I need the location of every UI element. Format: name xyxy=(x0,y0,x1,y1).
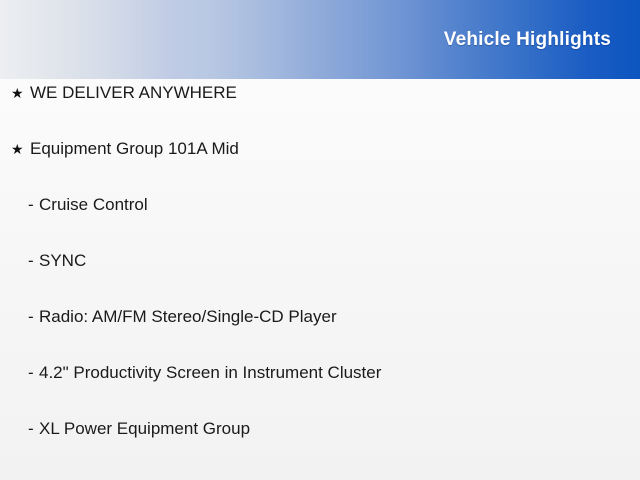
list-item: - Radio: AM/FM Stereo/Single-CD Player xyxy=(0,308,640,364)
vehicle-highlights-list: ★ WE DELIVER ANYWHERE ★ Equipment Group … xyxy=(0,84,640,476)
page-header-banner: Vehicle Highlights xyxy=(0,0,640,79)
list-item-label: SYNC xyxy=(39,252,86,269)
dash-marker-icon: - xyxy=(28,252,39,269)
list-item-label: Radio: AM/FM Stereo/Single-CD Player xyxy=(39,308,337,325)
list-item-label: WE DELIVER ANYWHERE xyxy=(30,84,237,101)
list-item: - Cruise Control xyxy=(0,196,640,252)
dash-marker-icon: - xyxy=(28,308,39,325)
star-bullet-icon: ★ xyxy=(11,86,30,100)
dash-marker-icon: - xyxy=(28,364,39,381)
list-item: ★ WE DELIVER ANYWHERE xyxy=(0,84,640,140)
list-item-label: 4.2" Productivity Screen in Instrument C… xyxy=(39,364,381,381)
list-item-label: Cruise Control xyxy=(39,196,148,213)
list-item-label: Equipment Group 101A Mid xyxy=(30,140,239,157)
list-item: ★ Equipment Group 101A Mid xyxy=(0,140,640,196)
list-item: - SYNC xyxy=(0,252,640,308)
list-item-label: XL Power Equipment Group xyxy=(39,420,250,437)
dash-marker-icon: - xyxy=(28,420,39,437)
star-bullet-icon: ★ xyxy=(11,142,30,156)
list-item: - 4.2" Productivity Screen in Instrument… xyxy=(0,364,640,420)
dash-marker-icon: - xyxy=(28,196,39,213)
vehicle-highlights-page: Vehicle Highlights ★ WE DELIVER ANYWHERE… xyxy=(0,0,640,480)
page-title: Vehicle Highlights xyxy=(444,30,611,49)
list-item: - XL Power Equipment Group xyxy=(0,420,640,476)
